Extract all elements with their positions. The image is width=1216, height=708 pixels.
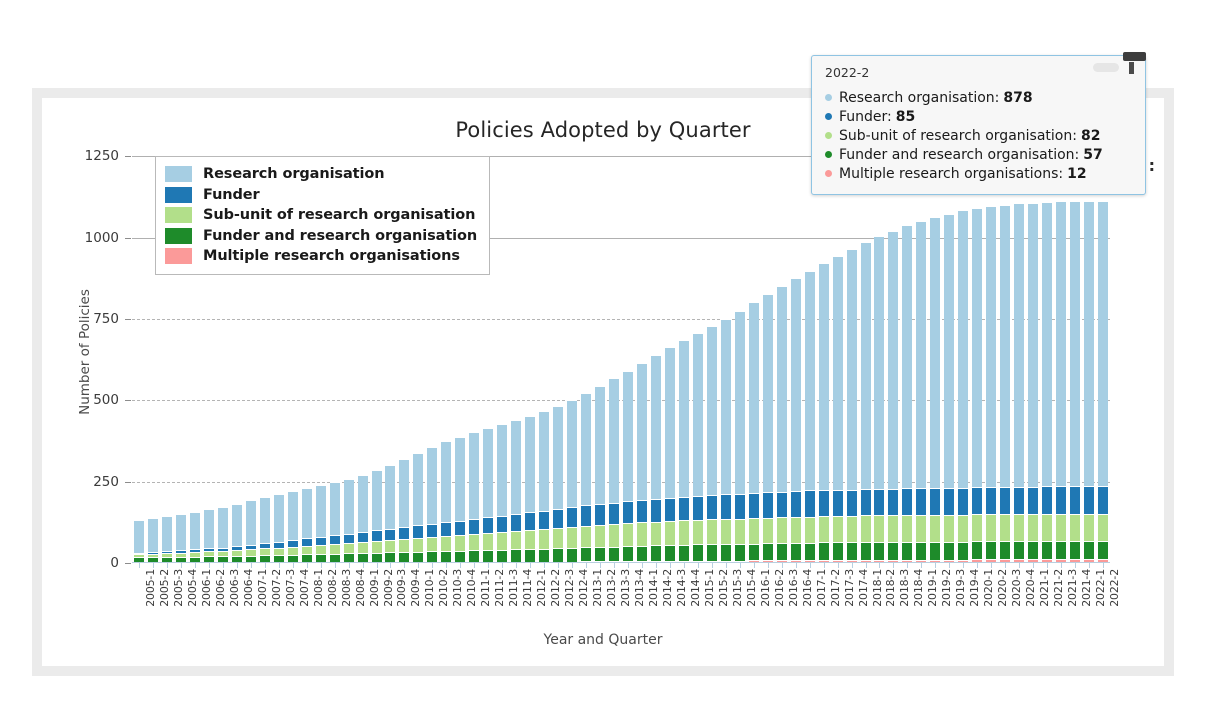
bar-stack[interactable] — [344, 479, 354, 563]
bar-segment — [1014, 514, 1024, 541]
bar-stack[interactable] — [497, 424, 507, 563]
bar-segment — [861, 489, 871, 516]
x-tick-label: 2007-1 — [256, 569, 269, 607]
x-tick-mark — [474, 563, 475, 568]
bar-segment — [567, 548, 577, 562]
y-tick-mark — [125, 482, 131, 483]
legend-item[interactable]: Multiple research organisations — [165, 246, 477, 267]
bar-stack[interactable] — [958, 210, 968, 563]
bar-segment — [637, 500, 647, 523]
bar-segment — [888, 515, 898, 541]
bar-stack[interactable] — [735, 311, 745, 563]
bar-stack[interactable] — [553, 406, 563, 563]
bar-stack[interactable] — [469, 432, 479, 563]
bar-segment — [693, 520, 703, 545]
bar-segment — [372, 541, 382, 553]
bar-segment — [847, 542, 857, 560]
x-tick-mark — [1033, 563, 1034, 568]
bar-segment — [651, 522, 661, 546]
bar-segment — [958, 515, 968, 542]
x-tick-label: 2015-3 — [731, 569, 744, 607]
bar-stack[interactable] — [651, 355, 661, 563]
bar-stack[interactable] — [1098, 201, 1108, 563]
bar-segment — [944, 542, 954, 560]
legend-item[interactable]: Funder and research organisation — [165, 226, 477, 247]
x-tick-label: 2009-2 — [382, 569, 395, 607]
bar-segment — [930, 217, 940, 488]
x-tick-mark — [726, 563, 727, 568]
bar-segment — [1028, 487, 1038, 515]
x-tick-label: 2016-3 — [787, 569, 800, 607]
x-tick-mark — [991, 563, 992, 568]
bar-segment — [469, 519, 479, 534]
bar-stack[interactable] — [274, 494, 284, 563]
x-tick-label: 2018-4 — [912, 569, 925, 607]
bar-stack[interactable] — [567, 400, 577, 563]
x-tick-mark — [866, 563, 867, 568]
x-tick-label: 2007-3 — [284, 569, 297, 607]
x-tick-mark — [670, 563, 671, 568]
bar-segment — [665, 521, 675, 545]
bar-stack[interactable] — [330, 482, 340, 563]
bar-stack[interactable] — [539, 411, 549, 563]
legend-item[interactable]: Funder — [165, 185, 477, 206]
bar-segment — [455, 521, 465, 535]
bar-segment — [1084, 541, 1094, 560]
bar-stack[interactable] — [148, 518, 158, 563]
chart-tooltip: 2022-2 Research organisation:878Funder:8… — [811, 55, 1146, 195]
bar-stack[interactable] — [930, 217, 940, 563]
x-tick-mark — [1019, 563, 1020, 568]
x-tick-mark — [1075, 563, 1076, 568]
bar-segment — [469, 534, 479, 551]
bar-stack[interactable] — [902, 225, 912, 563]
x-tick-mark — [223, 563, 224, 568]
bar-segment — [861, 542, 871, 560]
tooltip-row-value: 57 — [1083, 146, 1102, 165]
tooltip-title: 2022-2 — [825, 65, 1134, 84]
x-tick-mark — [139, 563, 140, 568]
x-tick-mark — [684, 563, 685, 568]
bar-segment — [791, 543, 801, 561]
x-tick-label: 2005-3 — [172, 569, 185, 607]
bar-segment — [441, 551, 451, 562]
bar-segment — [427, 537, 437, 552]
bar-segment — [916, 221, 926, 488]
x-tick-mark — [740, 563, 741, 568]
bar-segment — [833, 490, 843, 516]
bar-segment — [623, 371, 633, 501]
x-tick-label: 2006-2 — [214, 569, 227, 607]
x-tick-mark — [754, 563, 755, 568]
x-tick-label: 2015-1 — [703, 569, 716, 607]
bar-segment — [176, 514, 186, 550]
bar-segment — [651, 499, 661, 522]
bar-segment — [385, 552, 395, 561]
bar-segment — [553, 548, 563, 561]
bar-segment — [623, 523, 633, 546]
bar-segment — [609, 524, 619, 547]
bar-segment — [707, 326, 717, 495]
bar-stack[interactable] — [288, 491, 298, 563]
bar-segment — [581, 505, 591, 525]
bar-stack[interactable] — [1028, 203, 1038, 563]
bar-segment — [847, 490, 857, 516]
bar-segment — [972, 487, 982, 514]
bar-stack[interactable] — [874, 236, 884, 563]
bar-segment — [1000, 487, 1010, 514]
bar-stack[interactable] — [204, 509, 214, 563]
bar-segment — [763, 518, 773, 543]
x-tick-label: 2006-3 — [228, 569, 241, 607]
x-tick-label: 2017-4 — [857, 569, 870, 607]
bar-segment — [1084, 201, 1094, 487]
bar-stack[interactable] — [665, 347, 675, 563]
bar-segment — [358, 532, 368, 542]
x-tick-mark — [377, 563, 378, 568]
bar-segment — [427, 447, 437, 524]
x-tick-label: 2015-2 — [717, 569, 730, 607]
bar-segment — [413, 525, 423, 537]
bar-stack[interactable] — [763, 294, 773, 563]
bar-stack[interactable] — [888, 231, 898, 563]
bar-segment — [399, 539, 409, 552]
x-tick-mark — [977, 563, 978, 568]
bar-stack[interactable] — [609, 378, 619, 563]
legend-swatch-icon — [165, 207, 192, 223]
bar-segment — [1056, 201, 1066, 486]
bar-stack[interactable] — [525, 416, 535, 563]
bar-segment — [930, 488, 940, 515]
bar-stack[interactable] — [176, 514, 186, 563]
x-tick-label: 2012-2 — [549, 569, 562, 607]
bar-stack[interactable] — [1042, 202, 1052, 563]
bar-stack[interactable] — [441, 441, 451, 563]
bar-segment — [274, 555, 284, 562]
x-tick-label: 2011-2 — [493, 569, 506, 607]
x-tick-label: 2022-1 — [1094, 569, 1107, 607]
bar-stack[interactable] — [1084, 201, 1094, 563]
bar-stack[interactable] — [749, 302, 759, 563]
x-tick-label: 2009-4 — [409, 569, 422, 607]
bar-segment — [637, 363, 647, 500]
x-tick-mark — [1047, 563, 1048, 568]
bar-stack[interactable] — [232, 504, 242, 563]
x-tick-mark — [782, 563, 783, 568]
x-tick-label: 2015-4 — [745, 569, 758, 607]
bar-stack[interactable] — [1000, 205, 1010, 563]
bar-segment — [665, 347, 675, 497]
bar-segment — [316, 545, 326, 554]
bar-stack[interactable] — [1070, 201, 1080, 563]
bar-segment — [721, 319, 731, 495]
bar-segment — [1056, 486, 1066, 514]
bar-segment — [791, 491, 801, 517]
x-tick-mark — [558, 563, 559, 568]
bar-segment — [511, 514, 521, 531]
x-tick-label: 2008-1 — [312, 569, 325, 607]
bar-segment — [553, 528, 563, 548]
x-tick-mark — [516, 563, 517, 568]
bar-segment — [595, 504, 605, 525]
bar-stack[interactable] — [511, 420, 521, 563]
bar-segment — [902, 515, 912, 541]
bar-segment — [623, 501, 633, 523]
x-tick-label: 2013-2 — [605, 569, 618, 607]
bar-stack[interactable] — [721, 319, 731, 563]
tooltip-row: Funder and research organisation:57 — [825, 146, 1134, 165]
x-tick-mark — [824, 563, 825, 568]
bar-segment — [805, 490, 815, 516]
tooltip-row-label: Multiple research organisations: — [839, 165, 1063, 184]
x-tick-mark — [321, 563, 322, 568]
x-tick-mark — [418, 563, 419, 568]
bar-segment — [944, 515, 954, 542]
bar-stack[interactable] — [916, 221, 926, 563]
x-tick-mark — [586, 563, 587, 568]
bar-segment — [525, 549, 535, 562]
bar-segment — [958, 210, 968, 487]
bar-segment — [916, 515, 926, 542]
bar-segment — [819, 542, 829, 560]
bar-stack[interactable] — [805, 271, 815, 563]
bar-segment — [874, 236, 884, 488]
x-tick-mark — [768, 563, 769, 568]
tooltip-row: Multiple research organisations:12 — [825, 165, 1134, 184]
bar-segment — [679, 520, 689, 544]
bar-segment — [902, 488, 912, 515]
bar-stack[interactable] — [637, 363, 647, 563]
bar-segment — [735, 494, 745, 519]
bar-stack[interactable] — [483, 428, 493, 563]
legend-item-label: Funder — [203, 187, 260, 203]
bar-stack[interactable] — [162, 516, 172, 563]
legend-item-label: Funder and research organisation — [203, 228, 477, 244]
bar-segment — [1098, 486, 1108, 514]
bar-segment — [888, 231, 898, 489]
bar-segment — [330, 535, 340, 543]
x-tick-mark — [796, 563, 797, 568]
bar-stack[interactable] — [190, 512, 200, 563]
x-tick-mark — [404, 563, 405, 568]
bar-segment — [455, 437, 465, 521]
bar-segment — [763, 543, 773, 560]
tooltip-series-dot-icon — [825, 113, 832, 120]
bar-stack[interactable] — [833, 256, 843, 563]
bar-segment — [1056, 541, 1066, 560]
bar-segment — [344, 534, 354, 543]
bar-stack[interactable] — [316, 485, 326, 563]
bar-segment — [819, 490, 829, 516]
x-tick-mark — [167, 563, 168, 568]
bar-stack[interactable] — [819, 263, 829, 563]
x-tick-label: 2017-2 — [829, 569, 842, 607]
x-tick-label: 2016-2 — [773, 569, 786, 607]
bar-segment — [763, 294, 773, 492]
x-tick-mark — [614, 563, 615, 568]
bar-segment — [805, 517, 815, 543]
bar-segment — [358, 542, 368, 553]
legend-item-label: Multiple research organisations — [203, 248, 460, 264]
bar-segment — [1070, 514, 1080, 541]
bar-segment — [1042, 486, 1052, 514]
bar-stack[interactable] — [623, 371, 633, 563]
x-tick-label: 2006-1 — [200, 569, 213, 607]
x-tick-label: 2014-1 — [647, 569, 660, 607]
bar-segment — [958, 488, 968, 515]
bar-segment — [274, 494, 284, 542]
bar-segment — [483, 550, 493, 562]
bar-segment — [1070, 201, 1080, 486]
bar-segment — [679, 545, 689, 561]
bar-segment — [511, 420, 521, 514]
bar-segment — [707, 544, 717, 561]
bar-segment — [539, 529, 549, 549]
bar-segment — [651, 545, 661, 561]
legend-item[interactable]: Sub-unit of research organisation — [165, 205, 477, 226]
x-tick-mark — [810, 563, 811, 568]
legend-swatch-icon — [165, 166, 192, 182]
bar-segment — [861, 242, 871, 489]
bar-segment — [763, 492, 773, 517]
x-tick-mark — [698, 563, 699, 568]
bar-stack[interactable] — [399, 459, 409, 563]
bar-segment — [330, 554, 340, 562]
x-tick-mark — [181, 563, 182, 568]
legend-item-label: Sub-unit of research organisation — [203, 207, 475, 223]
bar-stack[interactable] — [595, 386, 605, 563]
bar-segment — [679, 497, 689, 521]
bar-segment — [385, 465, 395, 528]
bar-segment — [539, 411, 549, 511]
y-tick-label: 500 — [93, 392, 119, 408]
bar-stack[interactable] — [385, 465, 395, 563]
bar-segment — [302, 538, 312, 545]
bar-stack[interactable] — [861, 242, 871, 563]
bar-segment — [833, 516, 843, 542]
bar-stack[interactable] — [1014, 203, 1024, 563]
bar-stack[interactable] — [679, 340, 689, 563]
bar-segment — [204, 509, 214, 548]
y-axis-title: Number of Policies — [77, 289, 93, 415]
bar-segment — [888, 489, 898, 516]
tooltip-series-dot-icon — [825, 132, 832, 139]
bar-segment — [567, 507, 577, 527]
bar-stack[interactable] — [246, 500, 256, 563]
x-tick-label: 2017-3 — [843, 569, 856, 607]
bar-segment — [1028, 203, 1038, 487]
bar-segment — [1098, 201, 1108, 487]
bar-stack[interactable] — [302, 488, 312, 563]
x-tick-mark — [349, 563, 350, 568]
bar-segment — [805, 271, 815, 491]
bar-segment — [819, 516, 829, 542]
bar-stack[interactable] — [218, 507, 228, 563]
x-tick-label: 2019-4 — [968, 569, 981, 607]
tooltip-row-value: 878 — [1003, 89, 1032, 108]
bar-segment — [567, 527, 577, 548]
legend-item[interactable]: Research organisation — [165, 164, 477, 185]
bar-segment — [1070, 486, 1080, 514]
bar-segment — [833, 256, 843, 490]
bar-stack[interactable] — [427, 447, 437, 563]
scrollbar-thumb[interactable] — [1093, 63, 1119, 72]
x-tick-mark — [237, 563, 238, 568]
bar-stack[interactable] — [707, 326, 717, 563]
bar-stack[interactable] — [791, 278, 801, 563]
bar-segment — [847, 516, 857, 542]
bar-stack[interactable] — [777, 286, 787, 563]
x-tick-mark — [279, 563, 280, 568]
bar-segment — [288, 491, 298, 540]
bar-segment — [483, 533, 493, 550]
x-tick-mark — [712, 563, 713, 568]
bar-segment — [916, 488, 926, 515]
x-tick-mark — [1089, 563, 1090, 568]
x-tick-label: 2021-2 — [1052, 569, 1065, 607]
bar-stack[interactable] — [693, 333, 703, 563]
x-tick-label: 2019-1 — [926, 569, 939, 607]
bar-stack[interactable] — [358, 475, 368, 563]
bar-stack[interactable] — [413, 453, 423, 563]
legend-swatch-icon — [165, 228, 192, 244]
bar-stack[interactable] — [134, 520, 144, 563]
y-tick-label: 250 — [93, 474, 119, 490]
x-tick-mark — [963, 563, 964, 568]
bar-segment — [1000, 541, 1010, 560]
y-axis-title-wrapper: Number of Policies — [64, 140, 84, 563]
x-tick-mark — [628, 563, 629, 568]
bar-stack[interactable] — [581, 393, 591, 563]
bar-segment — [497, 516, 507, 532]
bar-stack[interactable] — [372, 470, 382, 563]
bar-stack[interactable] — [260, 497, 270, 563]
tooltip-row-label: Sub-unit of research organisation: — [839, 127, 1077, 146]
bar-segment — [316, 554, 326, 562]
bar-stack[interactable] — [455, 437, 465, 563]
x-tick-label: 2014-4 — [689, 569, 702, 607]
tooltip-row-value: 85 — [896, 108, 915, 127]
x-tick-mark — [502, 563, 503, 568]
x-tick-label: 2013-4 — [633, 569, 646, 607]
bar-segment — [693, 333, 703, 496]
x-tick-label: 2022-2 — [1108, 569, 1121, 607]
x-tick-label: 2007-4 — [298, 569, 311, 607]
bar-stack[interactable] — [847, 249, 857, 563]
x-tick-mark — [879, 563, 880, 568]
x-tick-label: 2010-1 — [423, 569, 436, 607]
bar-segment — [274, 548, 284, 555]
bar-stack[interactable] — [986, 206, 996, 563]
bar-stack[interactable] — [1056, 201, 1066, 563]
bar-stack[interactable] — [944, 214, 954, 563]
bar-segment — [1042, 202, 1052, 486]
y-tick-mark — [125, 400, 131, 401]
bar-segment — [735, 311, 745, 494]
bar-segment — [749, 518, 759, 543]
x-tick-mark — [642, 563, 643, 568]
x-tick-mark — [335, 563, 336, 568]
bar-segment — [1098, 541, 1108, 560]
tooltip-row-label: Funder and research organisation: — [839, 146, 1079, 165]
bar-stack[interactable] — [972, 208, 982, 563]
bar-segment — [972, 514, 982, 541]
bar-segment — [232, 504, 242, 547]
bar-segment — [595, 547, 605, 561]
bar-segment — [861, 515, 871, 541]
bar-segment — [1028, 514, 1038, 541]
tooltip-row: Research organisation:878 — [825, 89, 1134, 108]
